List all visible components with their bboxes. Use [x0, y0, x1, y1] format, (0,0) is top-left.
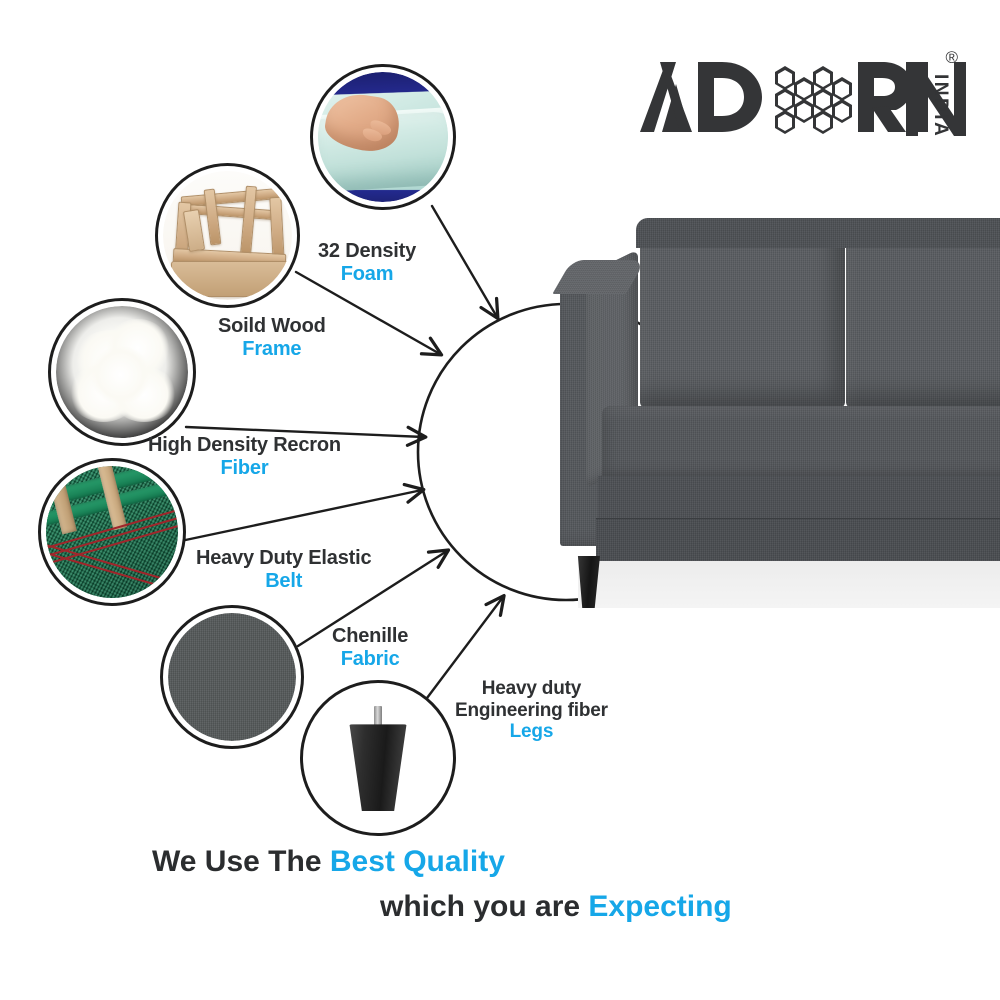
- circle-frame-inner: [163, 171, 292, 300]
- circle-foam-inner: [318, 72, 448, 202]
- circle-fabric-inner: [168, 613, 296, 741]
- label-foam-line1: 32 Density: [318, 240, 416, 262]
- foam-photo: [318, 72, 448, 202]
- circle-legs-inner: [308, 688, 448, 828]
- solid-wood-frame-photo: [163, 171, 292, 300]
- floor-shadow: [578, 558, 1000, 608]
- label-fiber-highlight: Fiber: [148, 457, 341, 480]
- tagline-line2-highlight: Expecting: [588, 890, 731, 923]
- label-frame-highlight: Frame: [218, 338, 326, 361]
- circle-belt-inner: [46, 466, 178, 598]
- label-belt-line1: Heavy Duty Elastic: [196, 547, 371, 569]
- elastic-belt-photo: [46, 466, 178, 598]
- circle-solid-wood-frame: [155, 163, 300, 308]
- label-legs-line2: Engineering fiber: [455, 700, 608, 721]
- circle-recron-fiber: [48, 298, 196, 446]
- tagline-line1-highlight: Best Quality: [330, 845, 505, 878]
- tagline-line-1: We Use The Best Quality: [152, 845, 505, 879]
- label-belt-highlight: Belt: [196, 570, 371, 593]
- recron-fiber-photo: [56, 306, 188, 438]
- tagline-line-2: which you are Expecting: [380, 890, 732, 924]
- circle-engineering-fiber-legs: [300, 680, 456, 836]
- label-fabric-line1: Chenille: [332, 625, 408, 647]
- arrow-belt-to-hub: [176, 490, 422, 542]
- label-legs: Heavy duty Engineering fiber Legs: [455, 678, 608, 743]
- label-belt: Heavy Duty Elastic Belt: [196, 547, 371, 593]
- circle-chenille-fabric: [160, 605, 304, 749]
- circle-elastic-belt: [38, 458, 186, 606]
- label-legs-line1: Heavy duty: [482, 678, 581, 699]
- label-fiber-line1: High Density Recron: [148, 434, 341, 456]
- arrow-foam-to-hub: [432, 206, 497, 317]
- seat-cushion: [602, 406, 1000, 484]
- label-frame: Soild Wood Frame: [218, 315, 326, 361]
- infographic-canvas: INDIA ®: [0, 0, 1000, 1000]
- circle-fiber-inner: [56, 306, 188, 438]
- tagline-line2-plain: which you are: [380, 890, 588, 923]
- tagline-line1-plain: We Use The: [152, 845, 330, 878]
- sofa-base-plinth: [596, 518, 1000, 561]
- label-frame-line1: Soild Wood: [218, 315, 326, 337]
- grey-fabric-sofa: [540, 200, 1000, 610]
- label-foam: 32 Density Foam: [318, 240, 416, 286]
- label-legs-highlight: Legs: [455, 721, 608, 743]
- seat-front-face: [598, 476, 1000, 520]
- circle-foam: [310, 64, 456, 210]
- sofa-backrest: [636, 218, 1000, 248]
- chenille-fabric-photo: [168, 613, 296, 741]
- label-fabric-highlight: Fabric: [332, 648, 408, 671]
- engineering-fiber-legs-photo: [308, 688, 448, 828]
- label-foam-highlight: Foam: [318, 263, 416, 286]
- back-cushion-left: [640, 228, 845, 408]
- back-cushion-right: [846, 226, 1000, 408]
- label-fiber: High Density Recron Fiber: [148, 434, 341, 480]
- label-fabric: Chenille Fabric: [332, 625, 408, 671]
